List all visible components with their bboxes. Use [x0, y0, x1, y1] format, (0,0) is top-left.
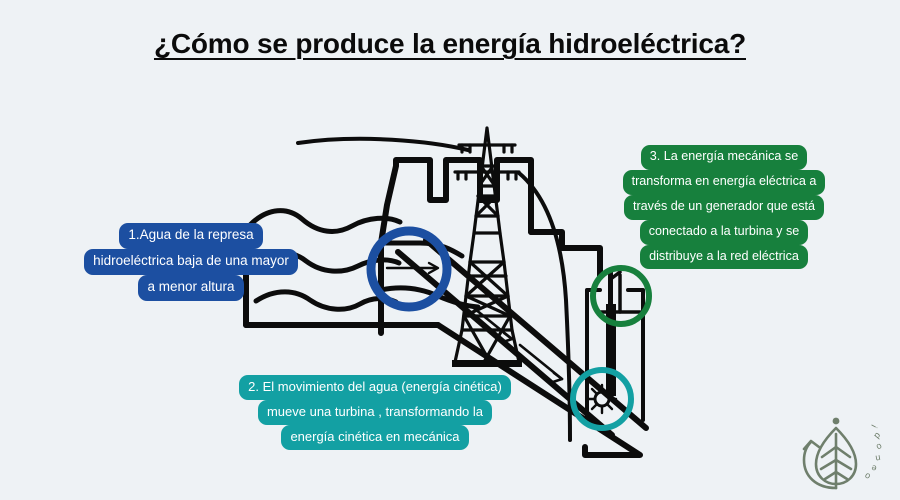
callout-step-2: 2. El movimiento del agua (energía cinét… — [205, 375, 545, 450]
callout-step-1-line: hidroeléctrica baja de una mayor — [36, 249, 346, 275]
callout-step-3-line: través de un generador que está — [598, 195, 850, 220]
callout-step-3-line: transforma en energía eléctrica a — [598, 170, 850, 195]
callout-step-1-line: a menor altura — [36, 275, 346, 301]
callout-step-3-line: conectado a la turbina y se — [598, 220, 850, 245]
callout-step-3-line: 3. La energía mecánica se — [598, 145, 850, 170]
callout-step-1: 1.Agua de la represa hidroeléctrica baja… — [36, 223, 346, 301]
power-line-left — [298, 139, 468, 150]
svg-text:d: d — [872, 431, 883, 441]
tower-base — [452, 360, 522, 367]
callout-step-2-line: mueve una turbina , transformando la — [205, 400, 545, 425]
infographic-canvas: ¿Cómo se produce la energía hidroeléctri… — [0, 0, 900, 500]
svg-text:e: e — [870, 463, 877, 474]
leaf-dot — [833, 418, 840, 425]
logo-brand-text: i d o n e o — [863, 423, 884, 482]
svg-text:o: o — [875, 441, 884, 452]
callout-step-1-line: 1.Agua de la represa — [36, 223, 346, 249]
turbine-highlight-circle — [573, 370, 631, 428]
svg-text:n: n — [875, 453, 882, 464]
callout-step-3: 3. La energía mecánica se transforma en … — [598, 145, 850, 269]
svg-text:i: i — [869, 423, 879, 429]
turbine-icon — [588, 385, 616, 413]
callout-step-3-line: distribuye a la red eléctrica — [598, 245, 850, 270]
callout-step-2-line: energía cinética en mecánica — [205, 425, 545, 450]
callout-step-2-line: 2. El movimiento del agua (energía cinét… — [205, 375, 545, 400]
idoneo-logo: i d o n e o — [786, 402, 890, 494]
